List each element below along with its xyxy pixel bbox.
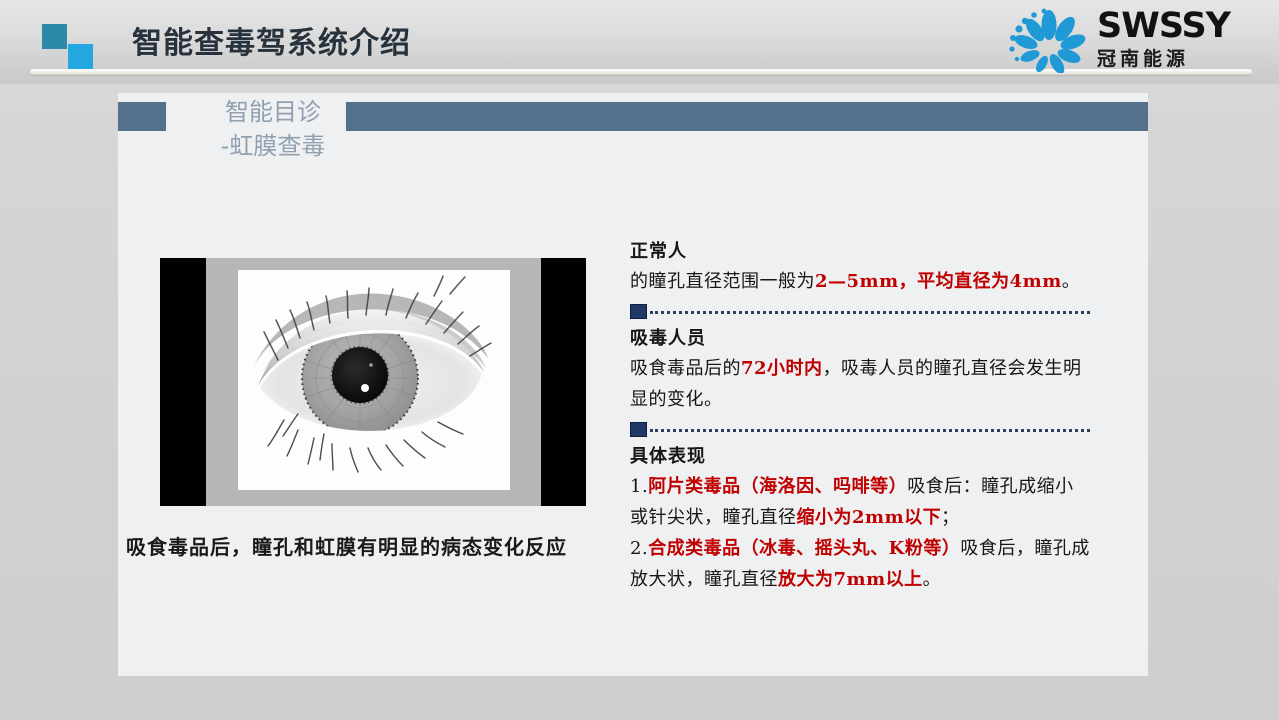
slide-title-line1: 智能目诊 <box>225 98 321 126</box>
eye-figure <box>160 258 586 506</box>
section-heading: 正常人 <box>630 238 1090 266</box>
brand-subtitle: 冠南能源 <box>1097 47 1265 71</box>
section-heading: 具体表现 <box>630 443 1090 471</box>
square-bright-icon <box>68 44 93 69</box>
square-dark-icon <box>42 24 67 49</box>
list-item-number: 2. <box>630 538 648 559</box>
description-column: 正常人 的瞳孔直径范围一般为2—5mm，平均直径为4mm。 吸毒人员 吸食毒品后… <box>630 238 1090 595</box>
slide-root: 智能查毒驾系统介绍 <box>0 0 1279 720</box>
list-item-end: ； <box>941 507 960 528</box>
page-title: 智能查毒驾系统介绍 <box>132 18 411 62</box>
slide-title: 智能目诊 -虹膜查毒 <box>178 95 368 163</box>
brand-logo: SWSSY 冠南能源 <box>1005 5 1265 77</box>
section-body: 吸食毒品后的72小时内，吸毒人员的瞳孔直径会发生明显的变化。 <box>630 353 1090 415</box>
figure-letterbox-right <box>541 258 586 506</box>
figure-caption: 吸食毒品后，瞳孔和虹膜有明显的病态变化反应 <box>126 531 626 560</box>
slide-title-line2: -虹膜查毒 <box>178 129 368 163</box>
brand-name: SWSSY <box>1097 7 1265 45</box>
list-item: 2.合成类毒品（冰毒、摇头丸、K粉等）吸食后，瞳孔成放大状，瞳孔直径放大为7mm… <box>630 533 1090 595</box>
title-bar-left-block <box>118 102 166 131</box>
section-body: 的瞳孔直径范围一般为2—5mm，平均直径为4mm。 <box>630 266 1090 297</box>
section-manifestations: 具体表现 1.阿片类毒品（海洛因、吗啡等）吸食后：瞳孔成缩小或针尖状，瞳孔直径缩… <box>630 443 1090 595</box>
list-item-highlight-2: 缩小为2mm以下 <box>797 507 942 528</box>
brand-text-block: SWSSY 冠南能源 <box>1097 7 1265 71</box>
navy-square-bullet-icon <box>630 304 647 319</box>
slide-content-panel: 智能目诊 -虹膜查毒 <box>118 93 1148 676</box>
section-divider-2 <box>630 419 1090 441</box>
body-text-highlight: 72小时内 <box>741 358 823 379</box>
flower-droplet-logo-icon <box>1005 7 1093 73</box>
list-item-highlight: 阿片类毒品（海洛因、吗啡等） <box>648 476 907 497</box>
header-bar: 智能查毒驾系统介绍 <box>0 0 1279 84</box>
list-item-highlight: 合成类毒品（冰毒、摇头丸、K粉等） <box>648 538 960 559</box>
section-drug-user: 吸毒人员 吸食毒品后的72小时内，吸毒人员的瞳孔直径会发生明显的变化。 <box>630 325 1090 415</box>
title-bar-right-block <box>346 102 1148 131</box>
dotted-rule <box>650 429 1090 432</box>
grayscale-eye-iris-photo <box>238 270 510 490</box>
list-item-end: 。 <box>923 569 942 590</box>
list-item: 1.阿片类毒品（海洛因、吗啡等）吸食后：瞳孔成缩小或针尖状，瞳孔直径缩小为2mm… <box>630 471 1090 533</box>
body-text-period: 。 <box>1062 271 1081 292</box>
two-squares-decoration-icon <box>42 24 104 68</box>
body-text-highlight-2: 平均直径为4mm <box>917 271 1062 292</box>
body-text-highlight-comma: ， <box>899 271 918 292</box>
section-divider-1 <box>630 301 1090 323</box>
body-text-highlight: 2—5mm <box>815 271 899 292</box>
list-item-highlight-2: 放大为7mm以上 <box>778 569 923 590</box>
figure-letterbox-left <box>160 258 206 506</box>
body-text-plain: 的瞳孔直径范围一般为 <box>630 271 815 292</box>
list-item-number: 1. <box>630 476 648 497</box>
section-normal-person: 正常人 的瞳孔直径范围一般为2—5mm，平均直径为4mm。 <box>630 238 1090 297</box>
dotted-rule <box>650 311 1090 314</box>
section-heading: 吸毒人员 <box>630 325 1090 353</box>
body-text-plain: 吸食毒品后的 <box>630 358 741 379</box>
navy-square-bullet-icon <box>630 422 647 437</box>
